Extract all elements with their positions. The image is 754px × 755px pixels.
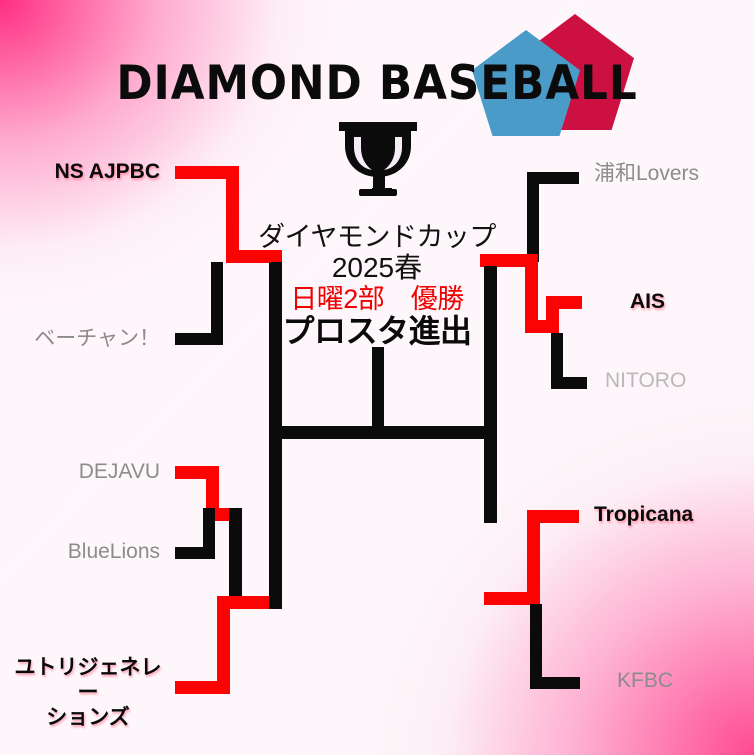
bracket-line-left-quarter-vertical — [229, 508, 242, 596]
bracket-line-left-top-vertical — [226, 166, 239, 262]
bracket-line-center-stem — [372, 347, 384, 435]
team-label-ns-ajpbc: NS AJPBC — [0, 160, 160, 184]
caption-line-4: プロスタ進出 — [258, 314, 496, 350]
bracket-line-right-ais-join — [525, 320, 559, 333]
bracket-line-right-tropicana-vertical — [527, 510, 540, 600]
team-label-bechan: ベーチャン！ — [0, 327, 160, 351]
bracket-line-left-yutori-vertical — [217, 596, 230, 694]
caption-line-1: ダイヤモンドカップ — [258, 222, 496, 252]
bracket-line-right-urawa-vertical — [527, 172, 539, 262]
team-label-kfbc: KFBC — [617, 669, 754, 693]
team-label-nitoro: NITORO — [605, 369, 754, 393]
caption-block: ダイヤモンドカップ 2025春 日曜2部 優勝 プロスタ進出 — [258, 222, 496, 350]
caption-line-3: 日曜2部 優勝 — [258, 284, 496, 314]
team-label-bluelions: BlueLions — [0, 540, 160, 564]
team-label-urawa-lovers: 浦和Lovers — [594, 162, 754, 186]
bracket-line-right-lower-final-vertical — [484, 438, 497, 523]
team-label-dejavu: DEJAVU — [0, 460, 160, 484]
bracket-line-right-semi-vertical — [525, 254, 538, 320]
caption-line-2: 2025春 — [258, 252, 496, 283]
trophy-icon — [335, 118, 421, 202]
bracket-line-left-bechan-vertical — [211, 262, 223, 345]
tournament-bracket-poster: DIAMOND BASEBALL ダイヤモンドカップ 2025春 日曜2部 優勝… — [0, 0, 754, 755]
team-label-yutori: ユトリジェネレー ションズ — [8, 656, 168, 730]
bracket-line-right-nitoro-vertical — [551, 333, 563, 389]
bracket-line-right-kfbc-vertical — [530, 604, 542, 689]
team-label-ais: AIS — [630, 290, 750, 314]
page-title: DIAMOND BASEBALL — [26, 56, 727, 111]
bracket-line-left-bluelions-vertical — [203, 508, 215, 559]
bracket-line-left-lower-vertical — [269, 438, 282, 609]
team-label-yutori-line2: ションズ — [8, 706, 168, 731]
team-label-tropicana: Tropicana — [594, 503, 754, 527]
team-label-yutori-line1: ユトリジェネレー — [8, 656, 168, 706]
